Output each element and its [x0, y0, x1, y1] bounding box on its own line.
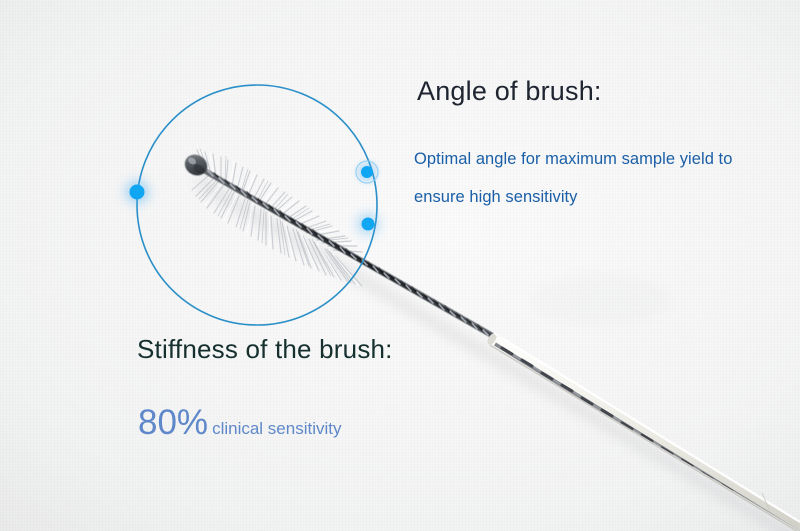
annotation-overlay [0, 0, 800, 531]
callout-angle-heading: Angle of brush: [417, 76, 602, 107]
callout-angle-body-line-2: ensure high sensitivity [414, 178, 732, 216]
stat-caption: clinical sensitivity [212, 419, 341, 439]
infographic-canvas: Angle of brush: Optimal angle for maximu… [0, 0, 800, 531]
marker-right-upper[interactable] [356, 161, 378, 183]
marker-left[interactable] [125, 180, 149, 204]
stat-value: 80% [138, 403, 208, 443]
callout-stiffness-stat: 80% clinical sensitivity [138, 403, 342, 443]
highlight-circle [137, 85, 377, 325]
marker-right-lower[interactable] [357, 213, 379, 235]
callout-angle-body: Optimal angle for maximum sample yield t… [414, 140, 732, 216]
callout-angle-body-line-1: Optimal angle for maximum sample yield t… [414, 140, 732, 178]
callout-stiffness-heading: Stiffness of the brush: [137, 334, 393, 365]
